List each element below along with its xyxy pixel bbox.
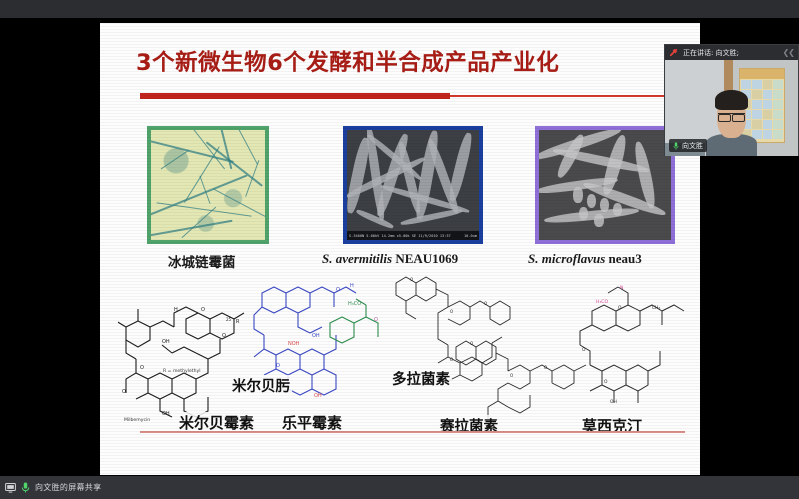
svg-text:O: O: [374, 317, 378, 323]
video-tile-body: 向文胜: [665, 60, 798, 156]
svg-text:O: O: [140, 365, 144, 371]
structure-milbemycin: H O O R 25 OH O O OH: [118, 293, 253, 418]
caption-bingcheng-streptomyces: 冰城链霉菌: [168, 251, 236, 271]
svg-text:H₃CO: H₃CO: [348, 301, 361, 307]
svg-text:O: O: [122, 389, 126, 395]
meeting-top-bar: [0, 0, 799, 18]
svg-text:O: O: [450, 309, 453, 314]
monitor-icon[interactable]: [5, 483, 16, 493]
svg-text:O: O: [582, 347, 586, 353]
svg-text:O: O: [604, 379, 608, 385]
pin-icon[interactable]: [669, 48, 678, 57]
svg-text:O: O: [544, 365, 547, 370]
microphone-icon[interactable]: [21, 482, 30, 493]
label-milbemycin: 米尔贝霉素: [177, 412, 256, 433]
micrograph-sem-microflavus: [535, 126, 675, 244]
participant-hair: [715, 90, 748, 109]
sem-data-bar: S-3400N 5.00kV 14.2mm x5.00k SE 11/9/201…: [347, 231, 479, 240]
screen-share-view: 3个新微生物6个发酵和半合成产品产业化: [0, 0, 799, 499]
svg-text:O: O: [222, 333, 226, 339]
structure-moxidectin: H₃CO N O CH₃ O O OH: [566, 279, 690, 405]
svg-text:O: O: [336, 287, 340, 293]
svg-text:OH: OH: [162, 339, 170, 345]
svg-text:O: O: [410, 277, 413, 282]
species-name-italic: S. avermitilis: [322, 251, 392, 266]
svg-text:OH: OH: [162, 411, 170, 417]
svg-text:OH: OH: [314, 393, 322, 399]
svg-text:O: O: [484, 301, 487, 306]
speaker-video-tile[interactable]: 正在讲话: 向文胜; ❮❮: [664, 44, 799, 156]
title-rule-thin: [450, 95, 685, 97]
chevron-double-icon[interactable]: ❮❮: [783, 48, 794, 57]
svg-text:O: O: [276, 363, 280, 369]
svg-text:CH₃: CH₃: [652, 305, 660, 311]
structure-fragment-green: H₃CO O: [322, 295, 388, 357]
title-rule-thick: [140, 93, 450, 99]
micrograph-sem-avermitilis: S-3400N 5.00kV 14.2mm x5.00k SE 11/9/201…: [343, 126, 483, 244]
svg-text:R: R: [236, 319, 240, 325]
structure-name-milbemycin: Milbemycin: [124, 418, 150, 423]
speaking-status-label: 正在讲话: 向文胜;: [683, 48, 739, 58]
meeting-bottom-bar: 向文胜的屏幕共享: [0, 476, 799, 499]
participant-glasses: [718, 113, 745, 120]
svg-text:H: H: [350, 283, 354, 289]
svg-text:O: O: [201, 307, 205, 313]
strain-code: NEAU1069: [395, 251, 458, 266]
svg-text:O: O: [618, 305, 622, 311]
screen-share-label: 向文胜的屏幕共享: [35, 482, 101, 493]
video-tile-header: 正在讲话: 向文胜; ❮❮: [665, 45, 798, 60]
label-milbemectin: 米尔贝肟: [230, 375, 292, 396]
species-name-italic: S. microflavus: [528, 251, 605, 266]
svg-text:N: N: [620, 285, 623, 291]
micrograph-row: S-3400N 5.00kV 14.2mm x5.00k SE 11/9/201…: [100, 126, 700, 246]
participant-figure: [702, 81, 761, 156]
page-title: 3个新微生物6个发酵和半合成产品产业化: [136, 45, 696, 77]
chemical-structures-region: H O O R 25 OH O O OH R = methylethyl Mil…: [100, 275, 700, 425]
structure-note-r-group: R = methylethyl: [163, 369, 201, 374]
label-doramectin: 多拉菌素: [390, 368, 452, 389]
microphone-icon: [673, 142, 679, 150]
footer-rule: [140, 431, 685, 433]
svg-text:25: 25: [226, 317, 232, 322]
svg-text:OH: OH: [312, 333, 320, 339]
participant-name-text: 向文胜: [682, 141, 703, 151]
presentation-slide: 3个新微生物6个发酵和半合成产品产业化: [100, 23, 700, 475]
sem-scale-bar-label: 10.0um: [464, 234, 477, 238]
svg-text:OH: OH: [610, 399, 617, 405]
label-lepimectin: 乐平霉素: [280, 412, 344, 433]
poster-header: [740, 69, 783, 79]
svg-text:O: O: [470, 341, 473, 346]
caption-s-microflavus: S. microflavus neau3: [528, 251, 642, 267]
svg-text:H: H: [174, 307, 178, 313]
strain-code: neau3: [609, 251, 642, 266]
svg-text:O: O: [510, 373, 513, 378]
micrograph-light-streptomyces: [147, 126, 269, 244]
svg-text:H₃CO: H₃CO: [596, 299, 609, 305]
participant-name-badge: 向文胜: [669, 139, 707, 152]
caption-s-avermitilis: S. avermitilis NEAU1069: [322, 251, 458, 267]
sem-data-left: S-3400N 5.00kV 14.2mm x5.00k SE 11/9/201…: [349, 234, 451, 238]
svg-text:NOH: NOH: [288, 341, 300, 347]
